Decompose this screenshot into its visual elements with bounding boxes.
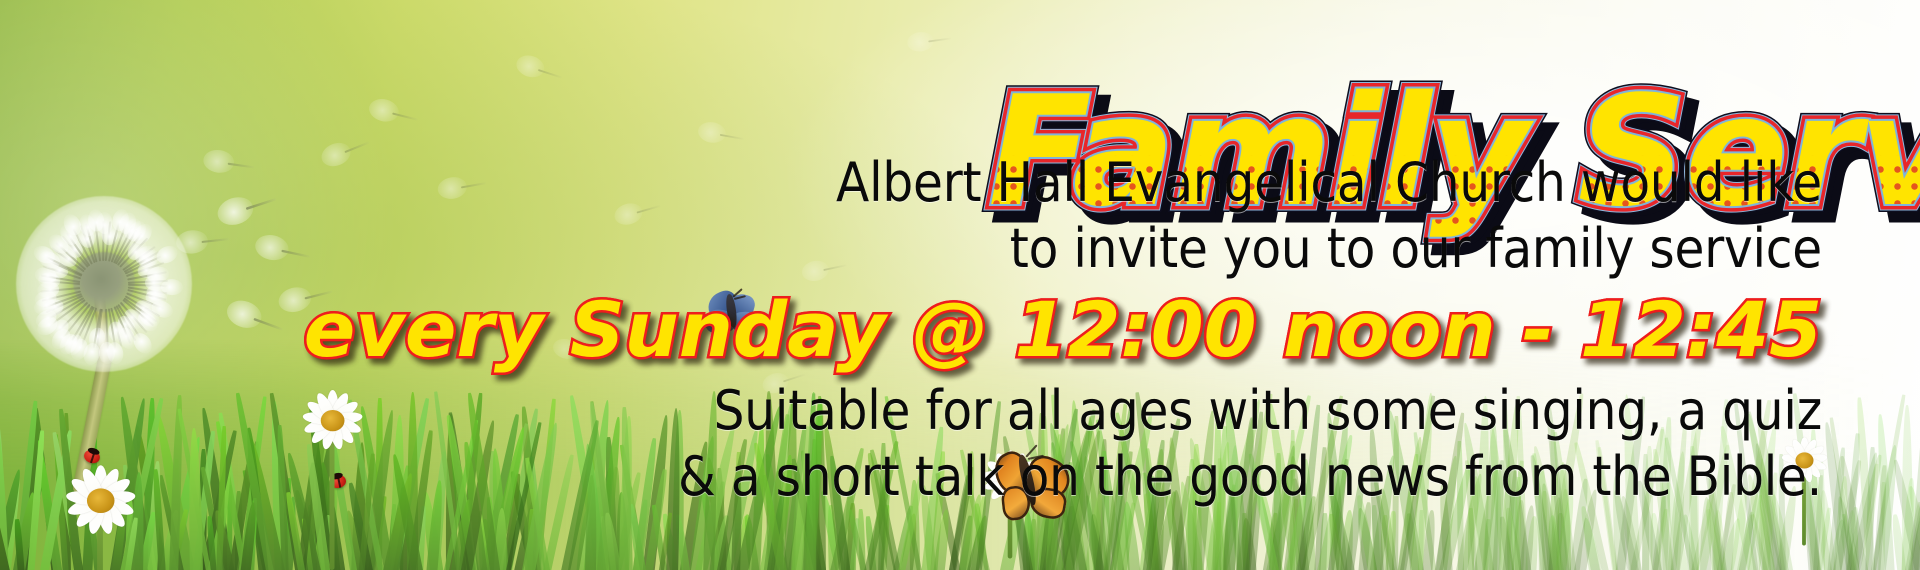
- body-line-3: Suitable for all ages with some singing,…: [322, 378, 1822, 444]
- family-service-banner: Family Service Family Service Family Ser…: [0, 0, 1920, 570]
- dandelion-seedhead-icon: [16, 196, 192, 372]
- daisy-center: [86, 488, 114, 513]
- service-time-block: every Sunday @ 12:00 noon - 12:45 every …: [322, 284, 1822, 376]
- body-line-1: Albert Hall Evangelical Church would lik…: [322, 150, 1822, 216]
- service-time-fill: every Sunday @ 12:00 noon - 12:45: [304, 284, 1822, 376]
- body-copy: Albert Hall Evangelical Church would lik…: [322, 150, 1822, 510]
- body-line-2: to invite you to our family service: [322, 216, 1822, 282]
- body-line-4: & a short talk on the good news from the…: [322, 444, 1822, 510]
